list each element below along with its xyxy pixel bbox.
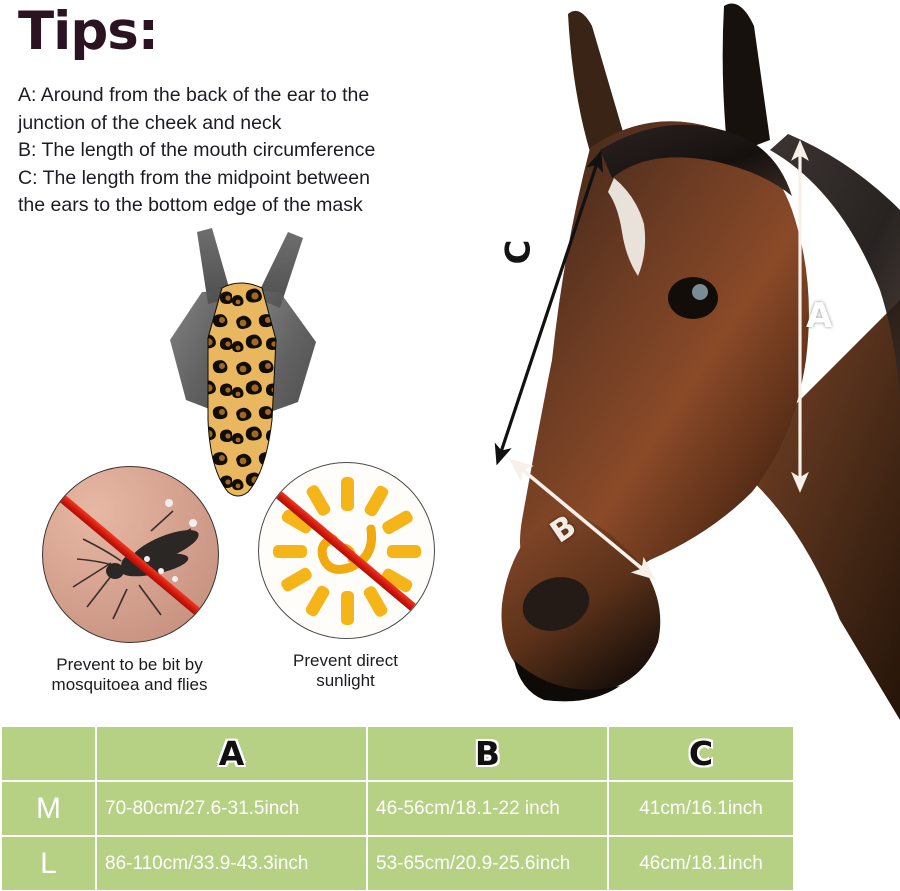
tips-line: C: The length from the midpoint between: [18, 165, 438, 193]
cell-m-c: 41cm/16.1inch: [608, 781, 794, 836]
infographic-page: Tips: A: Around from the back of the ear…: [0, 0, 900, 891]
measurement-label-a: A: [806, 296, 832, 336]
table-header-b: B: [367, 726, 608, 781]
mosquito-icon: [42, 466, 219, 643]
table-row: L 86-110cm/33.9-43.3inch 53-65cm/20.9-25…: [1, 836, 794, 891]
page-title: Tips:: [18, 4, 158, 60]
benefit-caption-line: Prevent to be bit by: [42, 655, 217, 675]
measurement-label-c: C: [498, 240, 538, 265]
benefit-mosquito: Prevent to be bit by mosquitoea and flie…: [42, 466, 217, 695]
sun-icon: [258, 462, 435, 639]
cell-m-a: 70-80cm/27.6-31.5inch: [96, 781, 367, 836]
size-label-m: M: [1, 781, 96, 836]
cell-m-b: 46-56cm/18.1-22 inch: [367, 781, 608, 836]
tips-line: A: Around from the back of the ear to th…: [18, 82, 438, 110]
table-row: M 70-80cm/27.6-31.5inch 46-56cm/18.1-22 …: [1, 781, 794, 836]
table-header-a: A: [96, 726, 367, 781]
benefit-caption: Prevent to be bit by mosquitoea and flie…: [42, 655, 217, 695]
horse-head-photo: [440, 0, 900, 720]
cell-l-b: 53-65cm/20.9-25.6inch: [367, 836, 608, 891]
table-header-blank: [1, 726, 96, 781]
benefit-caption: Prevent direct sunlight: [258, 651, 433, 691]
tips-line: the ears to the bottom edge of the mask: [18, 192, 438, 220]
benefit-caption-line: mosquitoea and flies: [42, 675, 217, 695]
table-header-c: C: [608, 726, 794, 781]
tips-description: A: Around from the back of the ear to th…: [18, 82, 438, 220]
tips-line: junction of the cheek and neck: [18, 110, 438, 138]
benefit-sun: Prevent direct sunlight: [258, 462, 433, 691]
horse-eye: [668, 277, 718, 319]
table-header-row: A B C: [1, 726, 794, 781]
tips-line: B: The length of the mouth circumference: [18, 137, 438, 165]
cell-l-c: 46cm/18.1inch: [608, 836, 794, 891]
horse-eye-highlight: [692, 284, 708, 300]
cell-l-a: 86-110cm/33.9-43.3inch: [96, 836, 367, 891]
size-chart-table: A B C M 70-80cm/27.6-31.5inch 46-56cm/18…: [0, 725, 795, 891]
benefit-caption-line: Prevent direct: [258, 651, 433, 671]
size-label-l: L: [1, 836, 96, 891]
horse-ear-left: [568, 11, 626, 152]
benefit-caption-line: sunlight: [258, 671, 433, 691]
